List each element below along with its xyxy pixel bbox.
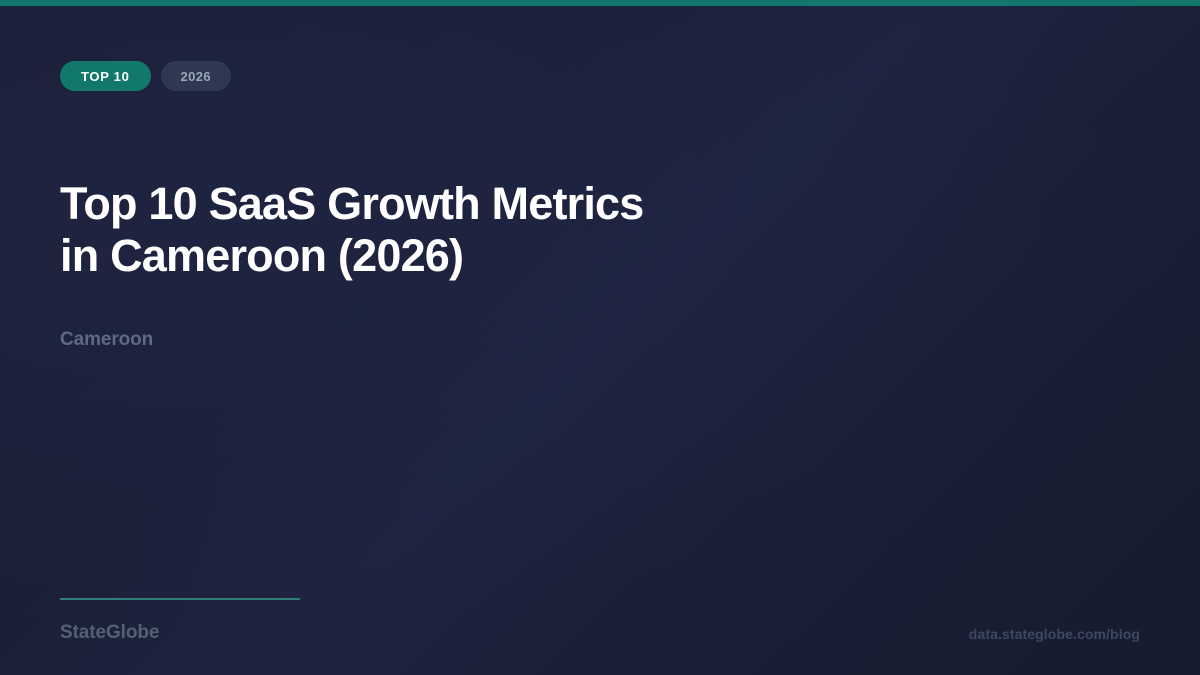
page-subtitle: Cameroon xyxy=(60,329,153,351)
footer-url: data.stateglobe.com/blog xyxy=(969,626,1140,642)
card-content: TOP 10 2026 Top 10 SaaS Growth Metrics i… xyxy=(0,0,1200,675)
footer-brand: StateGlobe xyxy=(60,622,159,644)
badge-top-10[interactable]: TOP 10 xyxy=(60,61,151,91)
badge-row: TOP 10 2026 xyxy=(60,61,231,91)
footer-divider xyxy=(60,598,300,600)
title-card: TOP 10 2026 Top 10 SaaS Growth Metrics i… xyxy=(0,0,1200,675)
page-title: Top 10 SaaS Growth Metrics in Cameroon (… xyxy=(60,178,800,282)
badge-year[interactable]: 2026 xyxy=(161,61,232,91)
